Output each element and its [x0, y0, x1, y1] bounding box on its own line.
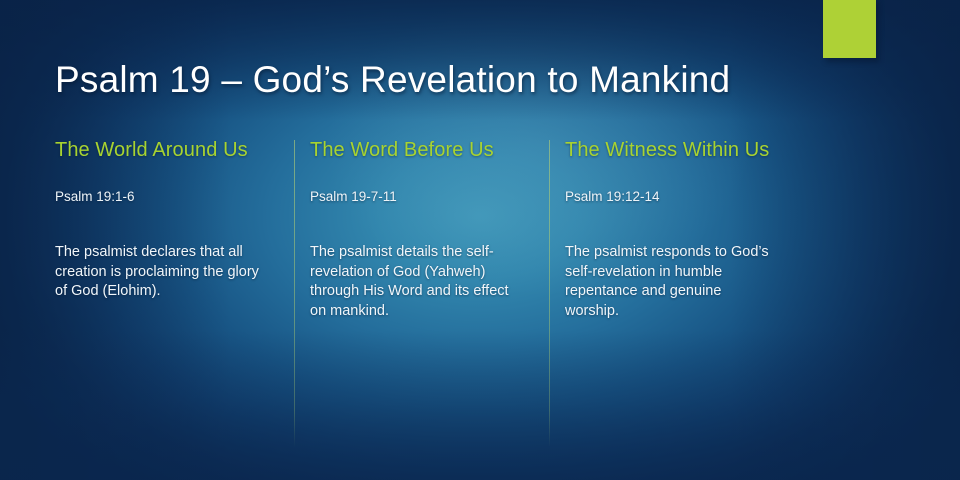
column-divider-1: [294, 140, 295, 447]
slide-title: Psalm 19 – God’s Revelation to Mankind: [55, 59, 855, 101]
green-accent-block: [823, 0, 876, 58]
column-scripture-reference-1: Psalm 19:1-6: [55, 188, 291, 206]
presentation-slide: Psalm 19 – God’s Revelation to Mankind T…: [0, 0, 960, 480]
column-body-text-3: The psalmist responds to God’s self-reve…: [565, 243, 775, 321]
content-columns: The World Around Us Psalm 19:1-6 The psa…: [0, 138, 960, 450]
column-body-text-1: The psalmist declares that all creation …: [55, 243, 265, 302]
column-body-text-2: The psalmist details the self-revelation…: [310, 243, 520, 321]
column-heading-3: The Witness Within Us: [565, 138, 801, 162]
content-column-1: The World Around Us Psalm 19:1-6 The psa…: [55, 138, 291, 302]
column-heading-2: The Word Before Us: [310, 138, 546, 162]
column-divider-2: [549, 140, 550, 447]
column-scripture-reference-2: Psalm 19-7-11: [310, 188, 546, 206]
content-column-3: The Witness Within Us Psalm 19:12-14 The…: [565, 138, 801, 321]
column-scripture-reference-3: Psalm 19:12-14: [565, 188, 801, 206]
content-column-2: The Word Before Us Psalm 19-7-11 The psa…: [310, 138, 546, 321]
column-heading-1: The World Around Us: [55, 138, 291, 162]
